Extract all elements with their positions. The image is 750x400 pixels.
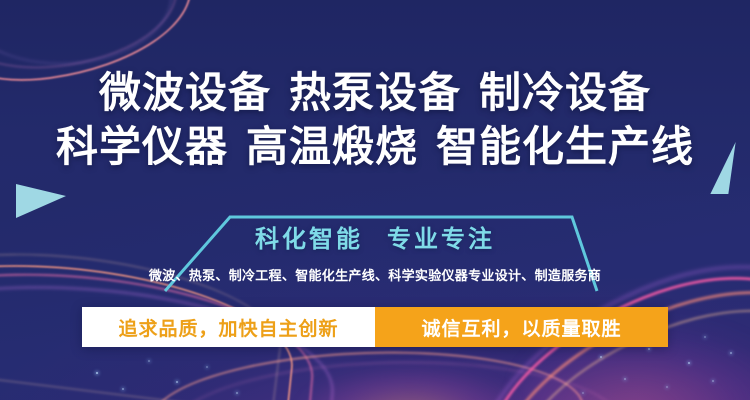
headline-term-calcination: 高温煅烧 bbox=[246, 123, 418, 170]
cta-bar: 追求品质，加快自主创新 诚信互利，以质量取胜 bbox=[82, 307, 668, 347]
slogan-kehua-zhineng: 科化智能 bbox=[255, 226, 363, 253]
headline-term-smartline: 智能化生产线 bbox=[436, 123, 694, 170]
banner-headline: 微波设备热泵设备制冷设备 科学仪器高温煅烧智能化生产线 bbox=[0, 66, 750, 174]
cta-integrity-quality[interactable]: 诚信互利，以质量取胜 bbox=[375, 307, 668, 347]
headline-line-2: 科学仪器高温煅烧智能化生产线 bbox=[0, 120, 750, 174]
slogan-subtitle: 微波、热泵、制冷工程、智能化生产线、科学实验仪器专业设计、制造服务商 bbox=[0, 266, 750, 286]
slogan-primary: 科化智能专业专注 bbox=[0, 224, 750, 256]
headline-term-heatpump: 热泵设备 bbox=[289, 69, 461, 116]
headline-term-microwave: 微波设备 bbox=[99, 69, 271, 116]
headline-line-1: 微波设备热泵设备制冷设备 bbox=[0, 66, 750, 120]
headline-term-refrigeration: 制冷设备 bbox=[479, 69, 651, 116]
promotional-banner: 微波设备热泵设备制冷设备 科学仪器高温煅烧智能化生产线 科化智能专业专注 微波、… bbox=[0, 0, 750, 400]
slogan-zhuanye-zhuanzhu: 专业专注 bbox=[387, 226, 495, 253]
cta-quality-innovation[interactable]: 追求品质，加快自主创新 bbox=[82, 307, 375, 347]
headline-term-instruments: 科学仪器 bbox=[56, 123, 228, 170]
